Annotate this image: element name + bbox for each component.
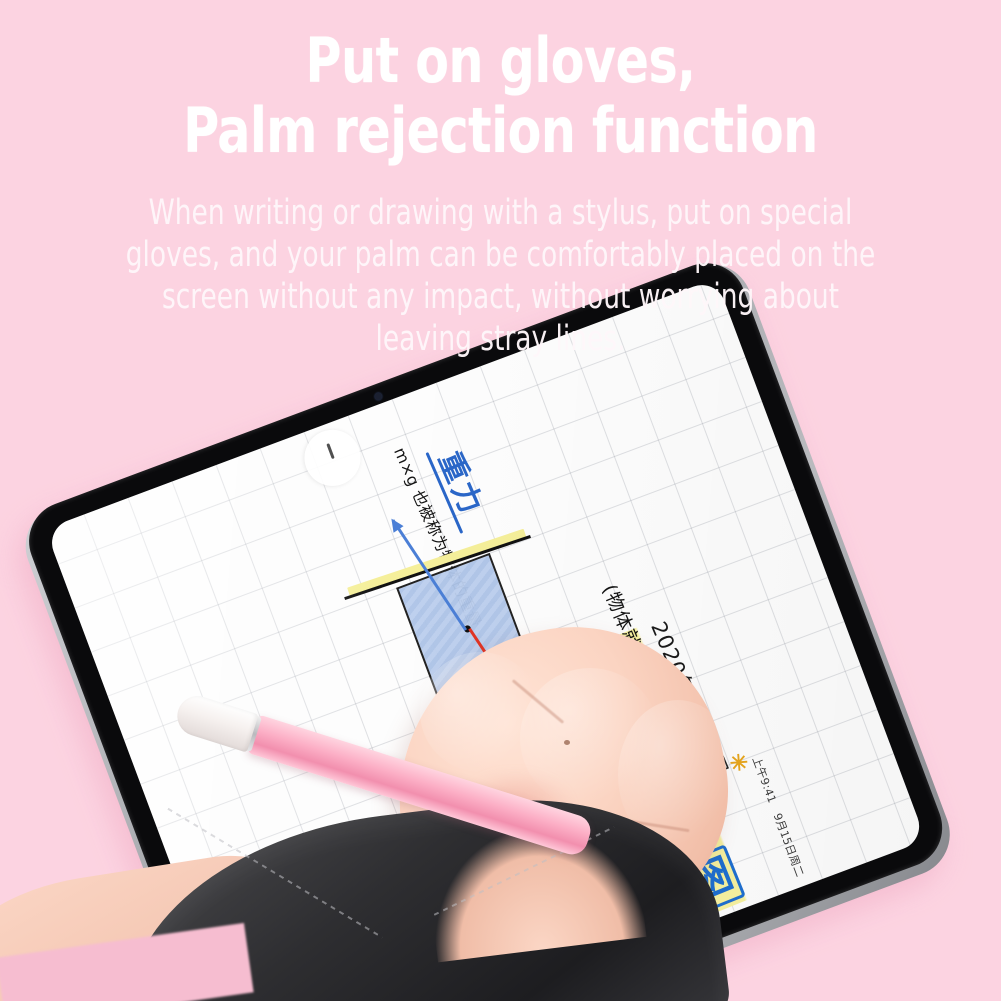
body-copy: When writing or drawing with a stylus, p…: [80, 192, 921, 360]
free-body-diagram: [325, 489, 610, 821]
body-line-1: When writing or drawing with a stylus, p…: [80, 192, 921, 234]
tablet-bezel: 上午9:41 9月15日周二 ✳ 2020年9月15日 自由体受力图 (物体就是…: [18, 252, 954, 1001]
marketing-copy: Put on gloves, Palm rejection function W…: [0, 0, 1001, 360]
body-line-4: leaving stray lines.: [80, 318, 921, 360]
body-line-2: gloves, and your palm can be comfortably…: [80, 234, 921, 276]
promo-banner: Put on gloves, Palm rejection function W…: [0, 0, 1001, 1001]
tablet-screen[interactable]: 上午9:41 9月15日周二 ✳ 2020年9月15日 自由体受力图 (物体就是…: [45, 278, 926, 1001]
tablet-device: 上午9:41 9月15日周二 ✳ 2020年9月15日 自由体受力图 (物体就是…: [18, 252, 954, 1001]
headline-line-2: Palm rejection function: [60, 96, 941, 166]
assistive-touch-icon[interactable]: [296, 422, 368, 494]
headline: Put on gloves, Palm rejection function: [60, 0, 941, 166]
body-line-3: screen without any impact, without worry…: [80, 276, 921, 318]
front-camera-icon: [374, 392, 383, 401]
headline-line-1: Put on gloves,: [306, 24, 696, 97]
